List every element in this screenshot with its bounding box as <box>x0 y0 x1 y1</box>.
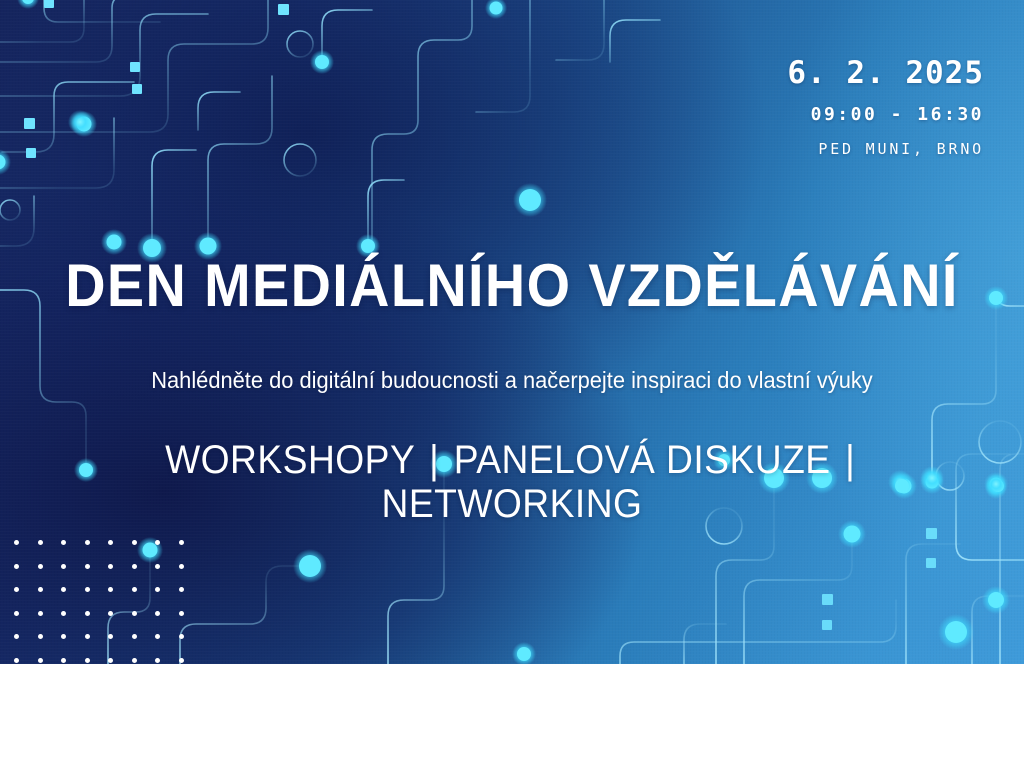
grid-dot <box>155 658 160 663</box>
grid-dot <box>14 658 19 663</box>
grid-dot <box>155 611 160 616</box>
track-networking: NETWORKING <box>382 482 643 526</box>
grid-dot <box>61 540 66 545</box>
event-poster: 6. 2. 2025 09:00 - 16:30 PED MUNI, BRNO … <box>0 0 1024 768</box>
grid-dot <box>108 540 113 545</box>
grid-dot <box>132 587 137 592</box>
grid-dot <box>85 658 90 663</box>
dot-grid-decoration <box>14 540 194 665</box>
grid-dot <box>155 564 160 569</box>
program-tracks: WORKSHOPY | PANELOVÁ DISKUZE | NETWORKIN… <box>36 438 988 526</box>
grid-dot <box>179 564 184 569</box>
grid-dot <box>108 634 113 639</box>
page-title: DEN MEDIÁLNÍHO VZDĚLÁVÁNÍ <box>36 256 988 316</box>
grid-dot <box>14 587 19 592</box>
grid-dot <box>38 611 43 616</box>
grid-dot <box>155 540 160 545</box>
track-panelova-diskuze: PANELOVÁ DISKUZE <box>454 438 831 482</box>
event-date: 6. 2. 2025 <box>787 58 984 89</box>
grid-dot <box>132 540 137 545</box>
grid-dot <box>38 634 43 639</box>
event-location: PED MUNI, BRNO <box>787 142 984 157</box>
grid-dot <box>85 611 90 616</box>
grid-dot <box>132 611 137 616</box>
track-workshopy: WORKSHOPY <box>165 438 414 482</box>
grid-dot <box>132 634 137 639</box>
logo-footer: MUNI PEDAGOGICKÁ FAKULTA Učitelská platf… <box>0 664 1024 768</box>
grid-dot <box>14 611 19 616</box>
grid-dot <box>85 587 90 592</box>
grid-dot <box>108 658 113 663</box>
grid-dot <box>85 634 90 639</box>
grid-dot <box>155 634 160 639</box>
grid-dot <box>132 658 137 663</box>
grid-dot <box>85 540 90 545</box>
grid-dot <box>108 587 113 592</box>
grid-dot <box>38 540 43 545</box>
grid-dot <box>132 564 137 569</box>
grid-dot <box>14 634 19 639</box>
grid-dot <box>155 587 160 592</box>
grid-dot <box>61 587 66 592</box>
grid-dot <box>179 658 184 663</box>
grid-dot <box>14 564 19 569</box>
grid-dot <box>179 587 184 592</box>
grid-dot <box>61 658 66 663</box>
track-separator: | <box>841 438 859 482</box>
event-meta: 6. 2. 2025 09:00 - 16:30 PED MUNI, BRNO <box>787 58 984 157</box>
grid-dot <box>61 611 66 616</box>
grid-dot <box>14 540 19 545</box>
grid-dot <box>61 564 66 569</box>
grid-dot <box>179 611 184 616</box>
grid-dot <box>179 634 184 639</box>
event-time: 09:00 - 16:30 <box>787 106 984 124</box>
grid-dot <box>38 564 43 569</box>
grid-dot <box>38 587 43 592</box>
grid-dot <box>61 634 66 639</box>
subtitle: Nahlédněte do digitální budoucnosti a na… <box>26 366 999 395</box>
grid-dot <box>38 658 43 663</box>
grid-dot <box>108 611 113 616</box>
grid-dot <box>85 564 90 569</box>
grid-dot <box>108 564 113 569</box>
grid-dot <box>179 540 184 545</box>
track-separator: | <box>425 438 443 482</box>
